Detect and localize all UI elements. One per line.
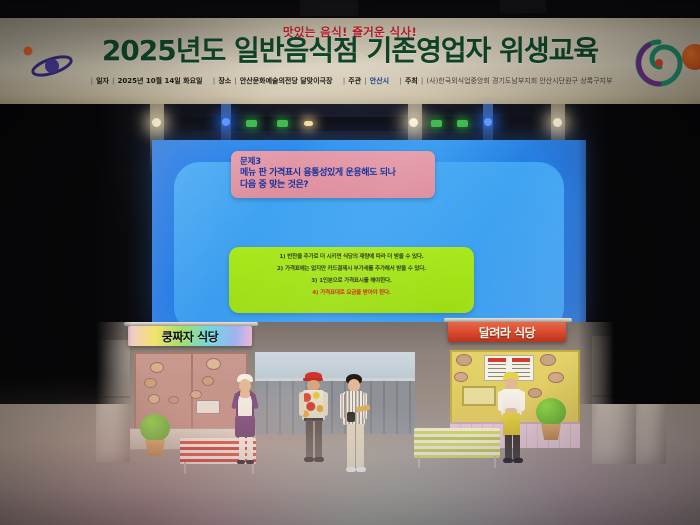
striped-shirt-leg-left — [347, 424, 355, 468]
chef-arm-right — [520, 391, 525, 411]
stage-light-amber-1 — [304, 121, 313, 126]
waist-pouch — [347, 412, 355, 422]
menu-row-2 — [488, 368, 506, 369]
chef-yellow-apron — [503, 413, 520, 437]
stage-light-green-2 — [277, 120, 288, 127]
waitress-shoe-right — [246, 460, 254, 464]
chef-shoe-right — [513, 458, 523, 463]
stage-light-green-3 — [431, 120, 442, 127]
red-cap-leg-right — [315, 420, 322, 458]
stage-wing-right-gradient — [578, 104, 614, 404]
stage-wing-left — [0, 104, 96, 404]
ceiling-panel-center — [300, 0, 358, 16]
right-wall-plate-3 — [548, 372, 564, 383]
stage-wing-right — [614, 104, 700, 404]
question-line-2: 다음 중 맞는 것은? — [240, 180, 427, 192]
stage-light-green-1 — [246, 120, 257, 127]
striped-shirt-leg-right — [356, 424, 364, 468]
answer-number-3: 3) — [311, 278, 317, 284]
waitress-shoe-left — [237, 460, 245, 464]
projection-screen: 문제3 메뉴 판 가격표시 융통성있게 운용해도 되나 다음 중 맞는 것은? … — [152, 140, 586, 323]
slide-answer-box: 1)반찬을 추가로 더 시키면 식당의 재량에 따라 더 받을 수 있다. 2)… — [229, 247, 474, 313]
red-cap-shoe-left — [304, 457, 314, 462]
banner-details: |일자|2025년 10월 14일 화요일 |장소|안산문화예술의전당 달맞이극… — [0, 76, 700, 86]
menu-row-6 — [512, 368, 530, 369]
answer-text-3: 1인분으로 가격표시를 해야한다. — [319, 278, 392, 284]
banner-place-label: 장소 — [218, 77, 231, 85]
menu-row-5 — [512, 364, 530, 365]
wall-plate-icon-7 — [190, 390, 202, 399]
wall-plate-icon-2 — [144, 378, 157, 388]
wall-plate-icon-6 — [202, 376, 214, 386]
chef-arm-left — [498, 391, 503, 411]
ansan-city-logo — [18, 44, 74, 80]
menu-header-right — [512, 358, 530, 362]
wall-plate-icon-1 — [150, 362, 164, 373]
backdrop-stone-wall — [255, 378, 415, 434]
right-wall-plate-5 — [528, 388, 542, 398]
stage-photo-scene: 맛있는 음식! 즐거운 식사! 2025년도 일반음식점 기존영업자 위생교육 … — [0, 0, 700, 525]
waitress-leg-left — [239, 437, 245, 461]
performer-striped-shirt — [336, 374, 372, 480]
red-cap-leg-left — [306, 420, 313, 458]
banner-organizer-value: (사)한국외식업중앙회 경기도남부지회 안산시단원구 상록구지부 — [426, 77, 612, 85]
menu-row-1 — [488, 364, 506, 365]
chef-leg-right — [513, 435, 520, 459]
banner-place-value: 안산문화예술의전당 달맞이극장 — [240, 77, 333, 85]
banner-date-label: 일자 — [96, 77, 109, 85]
wall-plate-icon-4 — [168, 396, 179, 404]
waitress-leg-right — [247, 437, 253, 461]
ceiling-panel-right — [500, 0, 546, 13]
stage-light-green-4 — [457, 120, 468, 127]
waitress-clapping-hands — [240, 390, 250, 398]
right-wall-plate-2 — [540, 354, 556, 366]
red-cap-shoe-right — [314, 457, 324, 462]
wall-plate-icon-3 — [148, 394, 160, 404]
plant-pot-right — [541, 424, 561, 440]
right-wall-plate-1 — [456, 354, 472, 366]
topiary-plant-left — [140, 414, 170, 442]
stage-wing-left-gradient — [96, 104, 132, 404]
striped-shirt-shoe-right — [356, 467, 366, 472]
answer-number-2: 2) — [277, 266, 283, 272]
answer-option-1: 1)반찬을 추가로 더 시키면 식당의 재량에 따라 더 받을 수 있다. — [235, 255, 468, 261]
banner-date-value: 2025년 10월 14일 화요일 — [118, 77, 203, 85]
table-leg-left-1 — [184, 462, 186, 474]
left-restaurant-sign: 쿵짜자 식당 — [128, 326, 252, 346]
question-line-1: 메뉴 판 가격표시 융통성있게 운용해도 되나 — [240, 168, 427, 180]
performer-waitress — [228, 374, 262, 472]
banner-host-label: 주관 — [348, 77, 361, 85]
korea-foodservice-association-logo — [632, 38, 686, 88]
performer-chef — [494, 372, 528, 466]
slide-question-box: 문제3 메뉴 판 가격표시 융통성있게 운용해도 되나 다음 중 맞는 것은? — [231, 151, 435, 198]
answer-text-1: 반찬을 추가로 더 시키면 식당의 재량에 따라 더 받을 수 있다. — [287, 254, 423, 260]
chef-shoe-left — [503, 458, 513, 463]
answer-option-4: 4)가격표대로 요금을 받아야 한다. — [235, 291, 468, 297]
menu-header-left — [488, 358, 506, 362]
topiary-plant-right — [536, 398, 566, 426]
answer-number-4: 4) — [312, 290, 318, 296]
waitress-skirt — [235, 416, 255, 438]
question-number: 문제3 — [240, 157, 427, 168]
red-cap-arm-right — [323, 392, 328, 416]
right-restaurant-sign-label: 달려라 식당 — [479, 324, 535, 341]
table-leg-right-1 — [418, 456, 420, 468]
left-restaurant-sign-label: 쿵짜자 식당 — [162, 328, 218, 345]
plant-pot-left — [145, 440, 165, 456]
answer-option-2: 2)가격표에는 없지만 카드결제시 부가세를 추가해서 받을 수 있다. — [235, 267, 468, 273]
red-cap-arm-left — [299, 392, 304, 416]
right-set-striped-table — [414, 428, 500, 458]
striped-shirt-shoe-left — [346, 467, 356, 472]
answer-number-1: 1) — [279, 254, 285, 260]
banner-title: 2025년도 일반음식점 기존영업자 위생교육 — [0, 36, 700, 66]
banner-host-value: 안산시 — [370, 77, 389, 85]
answer-option-3: 3)1인분으로 가격표시를 해야한다. — [235, 279, 468, 285]
right-restaurant-sign: 달려라 식당 — [448, 322, 566, 342]
performer-red-cap — [296, 372, 330, 468]
right-set-window — [462, 386, 496, 406]
red-cap-floral-shirt — [302, 390, 325, 420]
right-wall-plate-4 — [454, 372, 468, 382]
left-set-whiteboard — [196, 400, 220, 414]
answer-text-2: 가격표에는 없지만 카드결제시 부가세를 추가해서 받을 수 있다. — [285, 266, 426, 272]
banner-organizer-label: 주최 — [405, 77, 418, 85]
chef-leg-left — [505, 435, 512, 459]
wall-plate-icon-5 — [206, 358, 221, 370]
event-banner: 맛있는 음식! 즐거운 식사! 2025년도 일반음식점 기존영업자 위생교육 … — [0, 18, 700, 104]
backdrop-sky — [255, 352, 415, 380]
lighting-truss — [120, 117, 590, 131]
answer-text-4: 가격표대로 요금을 받아야 한다. — [320, 290, 391, 296]
striped-shirt-arm-left — [340, 393, 345, 419]
